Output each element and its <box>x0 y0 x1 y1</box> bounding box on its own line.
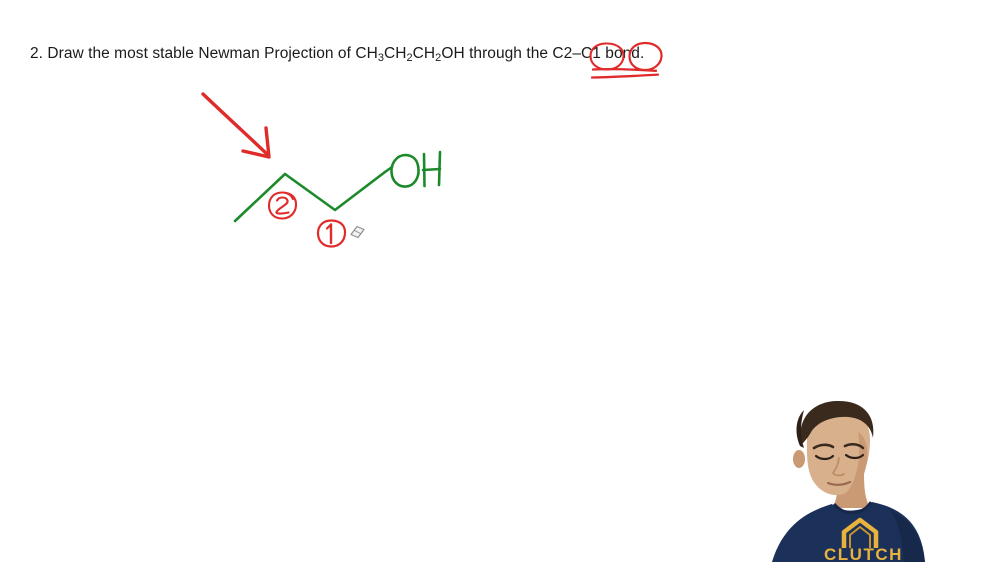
formula-subscript-2a: 2 <box>407 52 413 64</box>
carbon-marker-1 <box>318 221 345 247</box>
pointer-arrow-shaft <box>203 94 268 155</box>
ear <box>793 450 805 468</box>
chemical-formula: CH3CH2CH2OH <box>355 45 464 62</box>
question-text-before: Draw the most stable Newman Projection o… <box>47 45 351 62</box>
instructor-webcam: CLUTCH <box>740 398 1000 562</box>
question-text-middle: through the <box>469 45 548 62</box>
bond-to-hydroxyl <box>385 167 392 172</box>
hydroxyl-label <box>391 152 440 187</box>
underline-stroke-1 <box>593 69 656 71</box>
bond-dash: – <box>572 45 581 62</box>
atom-label-c2: C2 <box>552 45 572 62</box>
whiteboard-screen: 2. Draw the most stable Newman Projectio… <box>0 0 1000 562</box>
eraser-tool-cursor-icon <box>351 227 364 238</box>
carbon-marker-2 <box>269 193 296 219</box>
formula-subscript-3: 3 <box>378 52 384 64</box>
question-text: 2. Draw the most stable Newman Projectio… <box>30 44 644 65</box>
underline-stroke-2 <box>592 75 658 78</box>
pointer-arrow-head <box>243 128 269 157</box>
question-text-after: bond. <box>605 45 644 62</box>
skeletal-chain <box>235 172 385 221</box>
instructor-webcam-image: CLUTCH <box>740 398 1000 562</box>
question-full-text: 2. Draw the most stable Newman Projectio… <box>0 0 1 1</box>
formula-subscript-2b: 2 <box>435 52 441 64</box>
clutch-wordmark: CLUTCH <box>824 545 903 562</box>
atom-label-c1: C1 <box>581 45 601 62</box>
question-number: 2. <box>30 45 43 62</box>
